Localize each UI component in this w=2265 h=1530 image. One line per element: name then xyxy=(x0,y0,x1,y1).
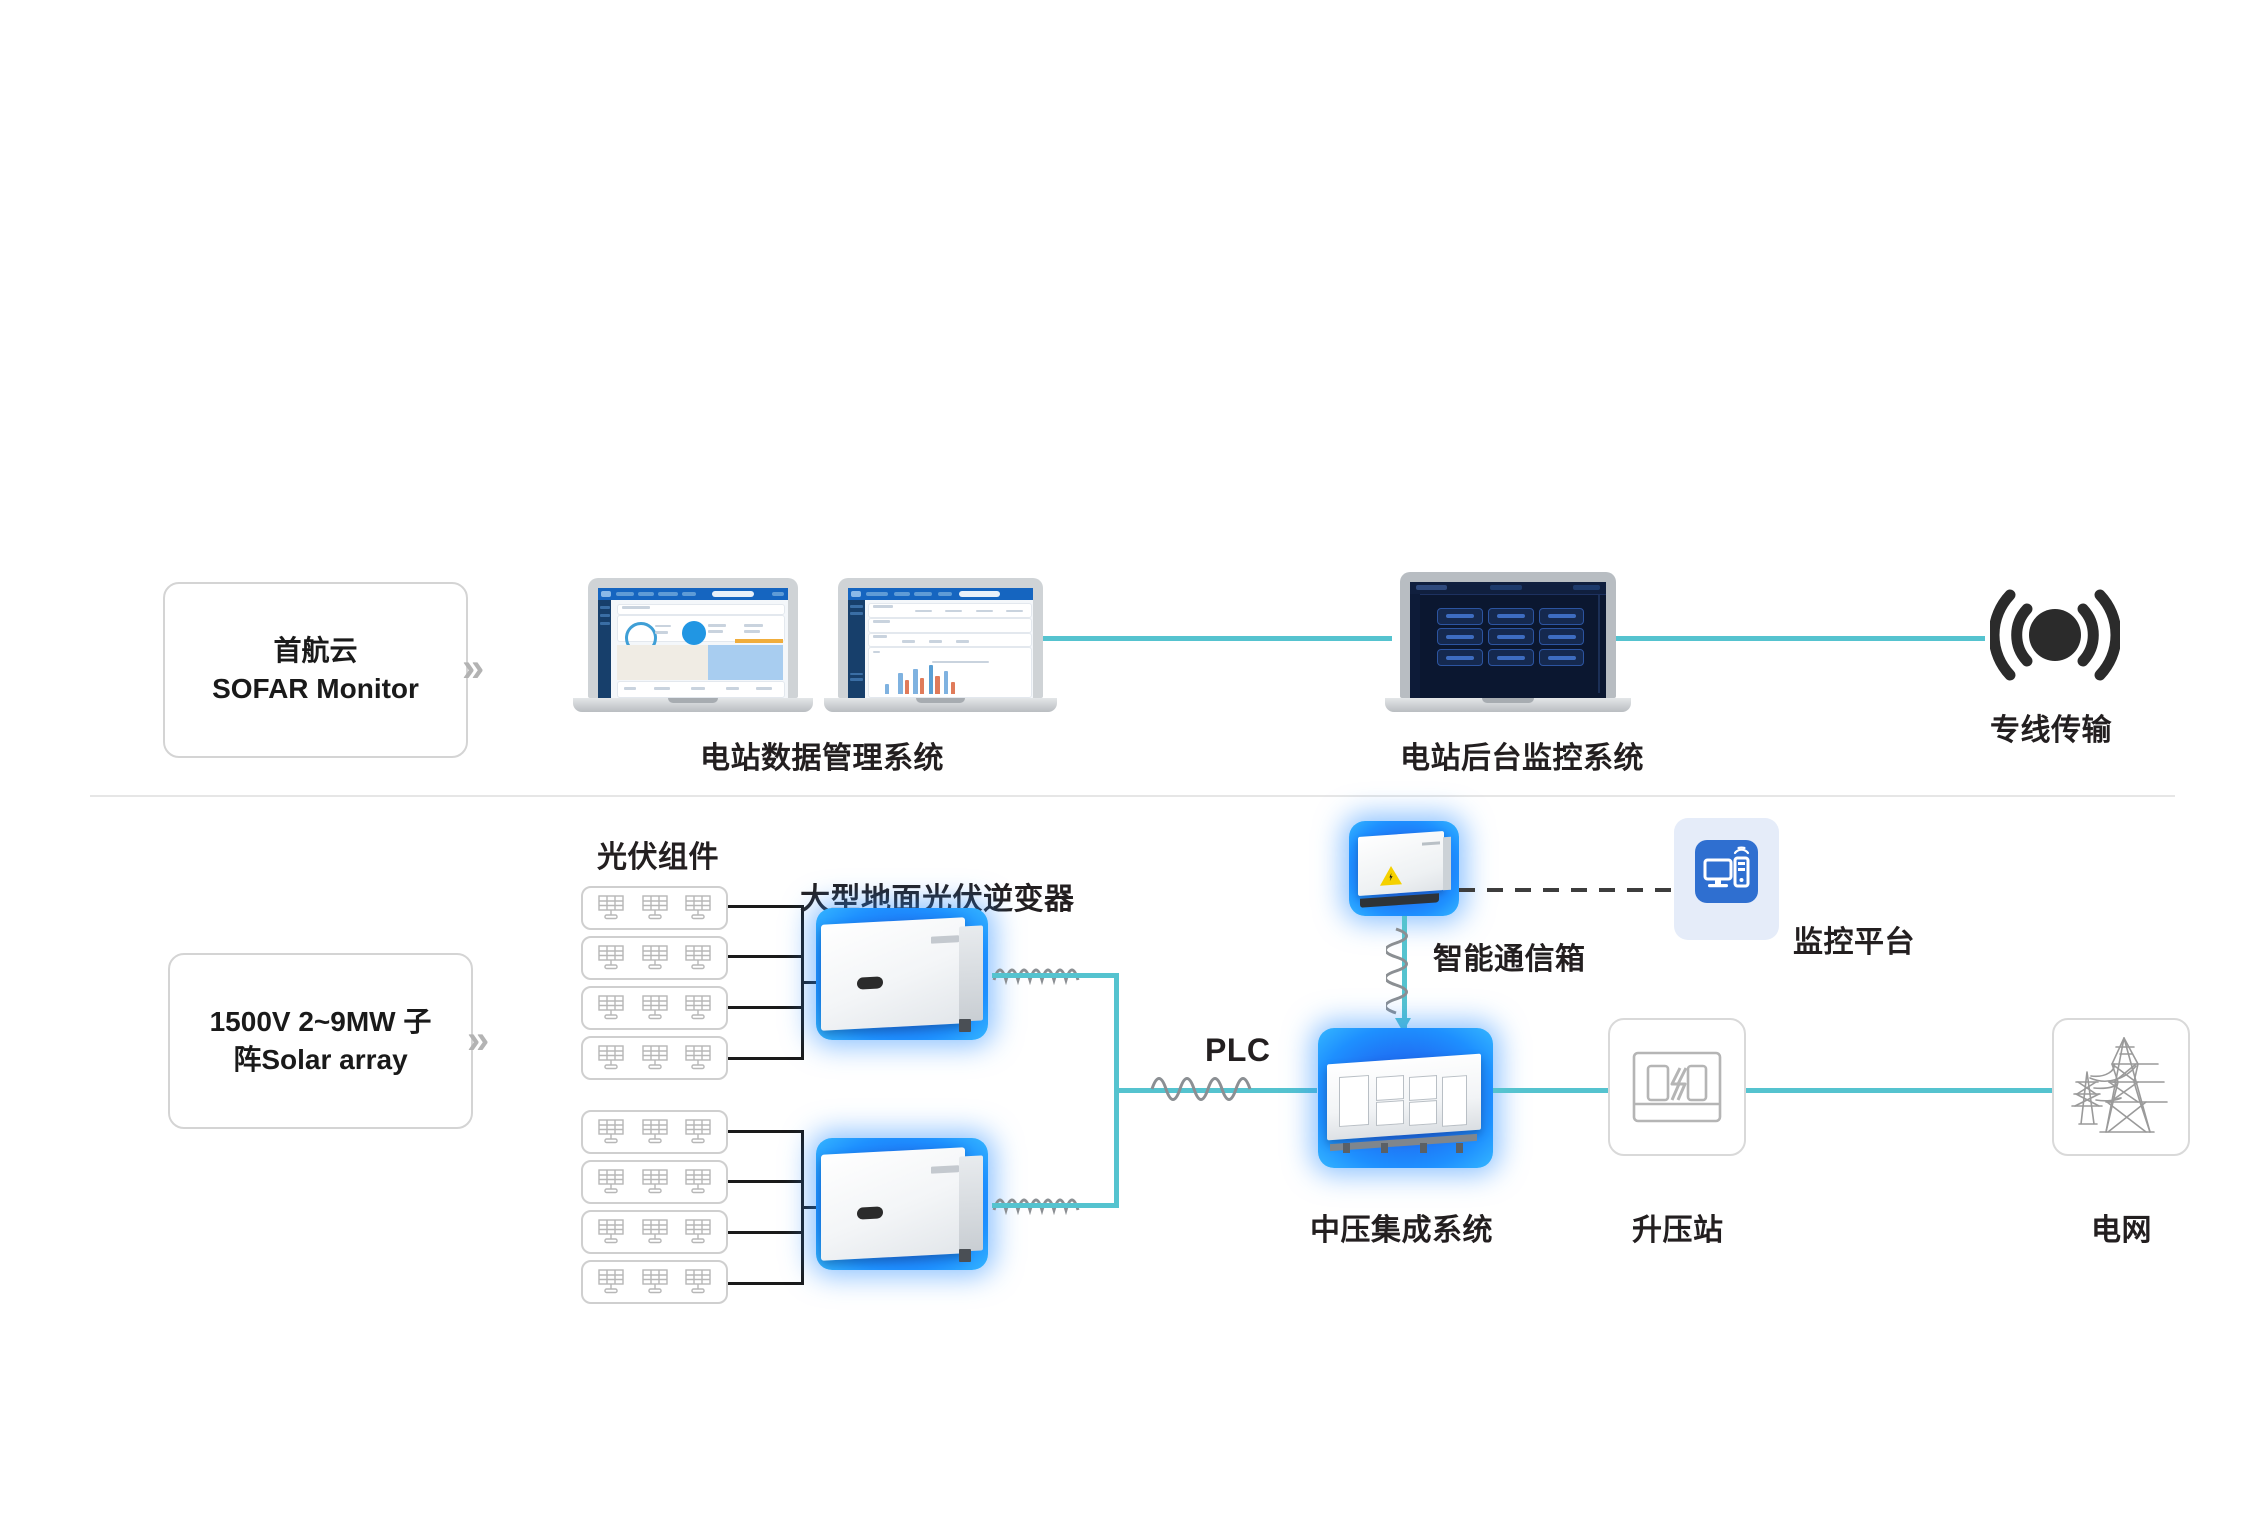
solar-panel-icon xyxy=(596,994,626,1022)
pv-module-row[interactable] xyxy=(581,1160,728,1204)
solar-panel-icon xyxy=(683,894,713,922)
solar-panel-icon xyxy=(640,894,670,922)
label-smart-communication-box: 智能通信箱 xyxy=(1433,934,1586,978)
solar-panel-icon xyxy=(640,1118,670,1146)
backend-monitor-ui xyxy=(1410,582,1606,698)
coil-commbox-to-mv xyxy=(1386,925,1422,1021)
smart-communication-box[interactable] xyxy=(1349,821,1459,916)
monitor-workstation-icon xyxy=(1695,840,1758,903)
inverter-upper[interactable] xyxy=(816,908,988,1040)
solar-panel-icon xyxy=(640,944,670,972)
label-monitoring-platform: 监控平台 xyxy=(1793,917,1915,961)
section-divider xyxy=(90,795,2175,797)
solar-panel-icon xyxy=(596,1268,626,1296)
pv-module-row[interactable] xyxy=(581,886,728,930)
coil-plc xyxy=(1150,1072,1268,1108)
solar-panel-icon xyxy=(640,1044,670,1072)
solar-panel-icon xyxy=(683,1168,713,1196)
solar-panel-icon xyxy=(683,1118,713,1146)
label-backend-monitor-system: 电站后台监控系统 xyxy=(1400,733,1644,777)
cloud-stage-chevron-icon: » xyxy=(462,648,484,688)
solar-panel-icon xyxy=(683,944,713,972)
solar-panel-icon xyxy=(640,1268,670,1296)
laptop-plant-data-reports[interactable] xyxy=(838,578,1043,710)
dashboard-body xyxy=(611,600,788,698)
dashboard-sidebar xyxy=(598,600,611,698)
grid-box[interactable] xyxy=(2052,1018,2190,1156)
solar-panel-icon xyxy=(596,944,626,972)
solar-panel-icon xyxy=(640,994,670,1022)
reports-topbar xyxy=(848,588,1033,600)
dashboard-topbar xyxy=(598,588,788,600)
cloud-label-cn: 首航云 xyxy=(212,632,419,670)
monitoring-platform-panel[interactable] xyxy=(1674,818,1779,940)
reports-body xyxy=(865,600,1033,698)
solar-panel-icon xyxy=(683,1218,713,1246)
solar-panel-icon xyxy=(596,1044,626,1072)
solar-panel-icon xyxy=(596,1168,626,1196)
transformer-icon xyxy=(1610,1020,1744,1154)
broadcast-antenna-icon xyxy=(1990,583,2120,687)
solar-panel-icon xyxy=(596,1218,626,1246)
wire-inverter-lower-out xyxy=(992,1203,1118,1208)
mv-integrated-system[interactable] xyxy=(1318,1028,1493,1168)
dashed-link-commbox-to-platform xyxy=(1459,880,1674,886)
solar-panel-icon xyxy=(596,894,626,922)
label-step-up-station: 升压站 xyxy=(1632,1205,1724,1249)
label-pv-modules: 光伏组件 xyxy=(597,832,719,876)
wire-stepup-to-grid xyxy=(1746,1088,2052,1093)
pv-module-row[interactable] xyxy=(581,1036,728,1080)
array-label-line1: 1500V 2~9MW 子 xyxy=(210,1003,432,1041)
link-backend-to-antenna xyxy=(1616,636,1985,641)
array-stage-chevron-icon: » xyxy=(467,1020,489,1060)
step-up-station-box[interactable] xyxy=(1608,1018,1746,1156)
pv-module-row[interactable] xyxy=(581,1110,728,1154)
laptop-backend-monitor[interactable] xyxy=(1400,572,1616,710)
array-label-line2: 阵Solar array xyxy=(210,1041,432,1079)
diagram-canvas: 首航云 SOFAR Monitor » xyxy=(0,0,2265,1530)
label-plant-data-management-system: 电站数据管理系统 xyxy=(700,733,944,777)
pv-module-row[interactable] xyxy=(581,986,728,1030)
wire-mv-to-stepup xyxy=(1493,1088,1608,1093)
label-plc: PLC xyxy=(1205,1032,1271,1069)
solar-panel-icon xyxy=(683,1044,713,1072)
solar-panel-icon xyxy=(640,1218,670,1246)
label-mv-integrated-system: 中压集成系统 xyxy=(1310,1205,1493,1249)
solar-panel-icon xyxy=(683,1268,713,1296)
stage-box-solar-array[interactable]: 1500V 2~9MW 子 阵Solar array xyxy=(168,953,473,1129)
stage-box-cloud[interactable]: 首航云 SOFAR Monitor xyxy=(163,582,468,758)
pv-module-row[interactable] xyxy=(581,936,728,980)
wire-inverter-upper-out xyxy=(992,973,1118,978)
label-grid: 电网 xyxy=(2091,1205,2152,1249)
link-datamgmt-to-backend xyxy=(1043,636,1392,641)
solar-panel-icon xyxy=(640,1168,670,1196)
solar-panel-icon xyxy=(683,994,713,1022)
label-dedicated-line-transmission: 专线传输 xyxy=(1990,705,2112,749)
pv-module-row[interactable] xyxy=(581,1210,728,1254)
power-pylon-icon xyxy=(2054,1020,2188,1154)
cloud-label-en: SOFAR Monitor xyxy=(212,670,419,708)
solar-panel-icon xyxy=(596,1118,626,1146)
laptop-plant-data-dashboard[interactable] xyxy=(588,578,798,710)
pv-module-row[interactable] xyxy=(581,1260,728,1304)
inverter-lower[interactable] xyxy=(816,1138,988,1270)
reports-sidebar xyxy=(848,600,865,698)
